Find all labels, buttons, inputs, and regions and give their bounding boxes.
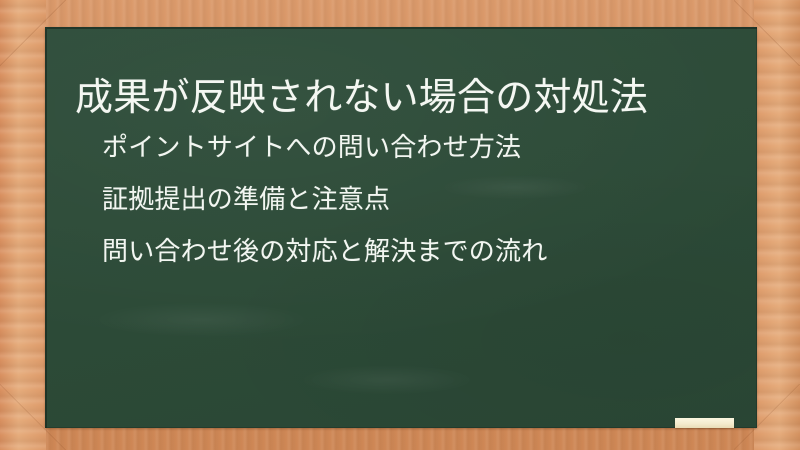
chalkboard-surface: 成果が反映されない場合の対処法 ポイントサイトへの問い合わせ方法 証拠提出の準備… — [45, 27, 757, 428]
slide-bullet-list: ポイントサイトへの問い合わせ方法 証拠提出の準備と注意点 問い合わせ後の対応と解… — [102, 134, 733, 264]
slide-bullet-item: 問い合わせ後の対応と解決までの流れ — [102, 238, 733, 264]
slide-bullet-item: ポイントサイトへの問い合わせ方法 — [102, 134, 733, 160]
board-frame-right-rail — [754, 0, 800, 450]
slide-bullet-item: 証拠提出の準備と注意点 — [102, 186, 733, 212]
slide-title: 成果が反映されない場合の対処法 — [75, 79, 733, 119]
chalkboard-slide: 成果が反映されない場合の対処法 ポイントサイトへの問い合わせ方法 証拠提出の準備… — [0, 0, 800, 450]
chalk-stick — [675, 418, 734, 428]
board-frame-left-rail — [0, 0, 46, 450]
